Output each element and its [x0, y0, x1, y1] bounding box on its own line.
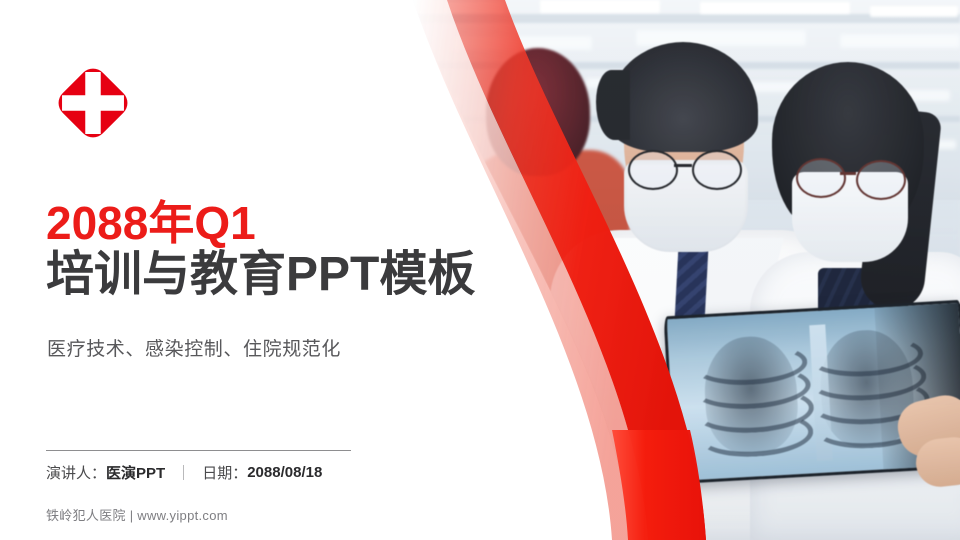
- presenter-label: 演讲人：: [46, 462, 106, 483]
- meta-divider: [46, 450, 351, 451]
- footer-credit: 铁岭犯人医院 | www.yippt.com: [46, 505, 228, 524]
- title-block: 2088年Q1 培训与教育PPT模板: [46, 200, 475, 303]
- page-title-main: 培训与教育PPT模板: [46, 248, 475, 303]
- slide-content: 2088年Q1 培训与教育PPT模板 医疗技术、感染控制、住院规范化 演讲人： …: [0, 0, 960, 540]
- page-title-year: 2088年Q1: [46, 200, 475, 248]
- date-value: 2088/08/18: [247, 464, 322, 481]
- meta-separator: [183, 465, 184, 480]
- medical-cross-logo-icon: [50, 60, 136, 146]
- page-subtitle: 医疗技术、感染控制、住院规范化: [47, 334, 341, 361]
- presenter-value: 医演PPT: [106, 462, 165, 483]
- date-label: 日期：: [202, 462, 247, 483]
- meta-line: 演讲人： 医演PPT 日期： 2088/08/18: [46, 462, 322, 483]
- presentation-slide: 2088年Q1 培训与教育PPT模板 医疗技术、感染控制、住院规范化 演讲人： …: [0, 0, 960, 540]
